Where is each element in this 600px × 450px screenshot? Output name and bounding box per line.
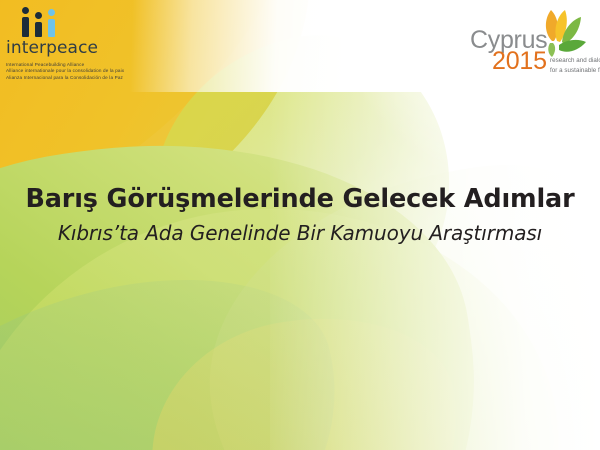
interpeace-wordmark: interpeace — [6, 40, 186, 57]
title-block: Barış Görüşmelerinde Gelecek Adımlar Kıb… — [0, 184, 600, 245]
cyprus-tagline: research and dialogue for a sustainable … — [550, 56, 600, 75]
interpeace-taglines: International Peacebuilding Alliance All… — [6, 62, 186, 81]
cyprus-2015-logo: Cyprus 2015 research and dialogue for a … — [470, 6, 600, 84]
interpeace-logo: interpeace International Peacebuilding A… — [6, 7, 186, 81]
two-people-icon — [22, 7, 64, 37]
page-title: Barış Görüşmelerinde Gelecek Adımlar — [0, 184, 600, 214]
interpeace-tagline-es: Alianza Internacional para la Consolidac… — [6, 75, 186, 81]
page-subtitle: Kıbrıs’ta Ada Genelinde Bir Kamuoyu Araş… — [0, 221, 600, 245]
cyprus-year: 2015 — [492, 49, 547, 74]
presentation-title-slide: interpeace International Peacebuilding A… — [0, 0, 600, 450]
